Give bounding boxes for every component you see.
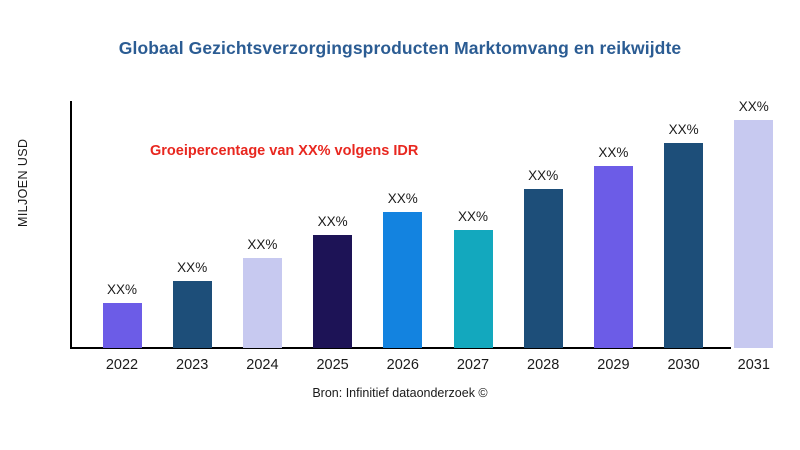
bar-value-label: XX% <box>107 282 137 297</box>
bar-value-label: XX% <box>739 99 769 114</box>
x-axis-tick-label: 2029 <box>597 357 629 373</box>
bar-value-label: XX% <box>388 191 418 206</box>
bar[interactable] <box>383 212 422 348</box>
bar-value-label: XX% <box>177 260 207 275</box>
bar-value-label: XX% <box>247 237 277 252</box>
bar[interactable] <box>734 120 773 348</box>
x-axis-tick-label: 2024 <box>246 357 278 373</box>
x-axis-tick-label: 2030 <box>667 357 699 373</box>
bar[interactable] <box>664 143 703 348</box>
chart-container: Globaal Gezichtsverzorgingsproducten Mar… <box>0 0 800 450</box>
bar-value-label: XX% <box>458 209 488 224</box>
bar-group: XX%2024 <box>243 0 282 348</box>
bar-group: XX%2028 <box>524 0 563 348</box>
bar[interactable] <box>243 258 282 348</box>
x-axis-tick-label: 2025 <box>316 357 348 373</box>
bar-group: XX%2025 <box>313 0 352 348</box>
bar-value-label: XX% <box>669 122 699 137</box>
growth-rate-annotation: Groeipercentage van XX% volgens IDR <box>150 143 418 159</box>
bar-value-label: XX% <box>318 214 348 229</box>
source-note: Bron: Infinitief dataonderzoek © <box>0 386 800 400</box>
bar-group: XX%2026 <box>383 0 422 348</box>
bar-group: XX%2022 <box>103 0 142 348</box>
bar-value-label: XX% <box>528 168 558 183</box>
bar-value-label: XX% <box>598 145 628 160</box>
bar-group: XX%2027 <box>454 0 493 348</box>
bar-group: XX%2023 <box>173 0 212 348</box>
x-axis-tick-label: 2022 <box>106 357 138 373</box>
bar[interactable] <box>454 230 493 348</box>
x-axis-tick-label: 2023 <box>176 357 208 373</box>
x-axis-tick-label: 2027 <box>457 357 489 373</box>
bar[interactable] <box>594 166 633 348</box>
bar[interactable] <box>524 189 563 348</box>
plot-area: XX%2022XX%2023XX%2024XX%2025XX%2026XX%20… <box>0 0 800 450</box>
x-axis-tick-label: 2028 <box>527 357 559 373</box>
bar-group: XX%2030 <box>664 0 703 348</box>
bar-group: XX%2031 <box>734 0 773 348</box>
bar[interactable] <box>103 303 142 348</box>
x-axis-tick-label: 2031 <box>738 357 770 373</box>
bar-group: XX%2029 <box>594 0 633 348</box>
x-axis-tick-label: 2026 <box>387 357 419 373</box>
bar[interactable] <box>173 281 212 348</box>
bar[interactable] <box>313 235 352 348</box>
